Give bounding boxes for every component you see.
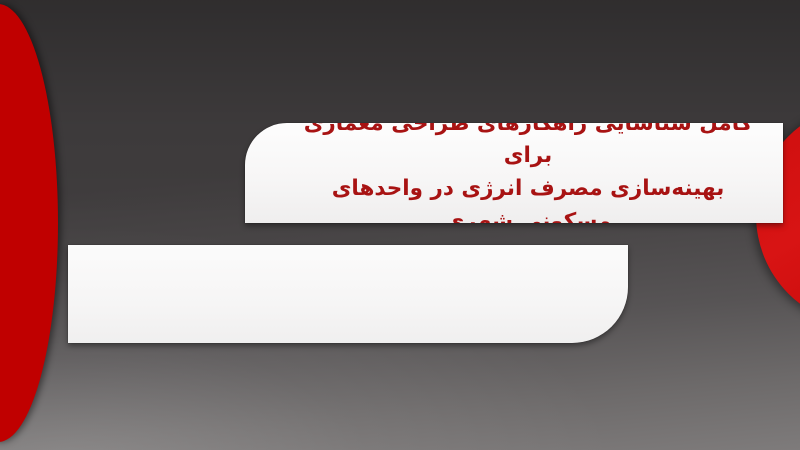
slide-title: کامل شناسایی راهکارهای طراحی معماری برای… bbox=[245, 123, 783, 223]
slide-title-line-2: بهینه‌سازی مصرف انرژی در واحدهای مسکونی … bbox=[291, 173, 765, 223]
background-arc-pattern bbox=[0, 0, 800, 450]
subtitle-panel bbox=[68, 245, 628, 343]
title-panel: کامل شناسایی راهکارهای طراحی معماری برای… bbox=[245, 123, 783, 223]
presentation-slide: کامل شناسایی راهکارهای طراحی معماری برای… bbox=[0, 0, 800, 450]
slide-title-line-1: کامل شناسایی راهکارهای طراحی معماری برای bbox=[291, 123, 765, 173]
